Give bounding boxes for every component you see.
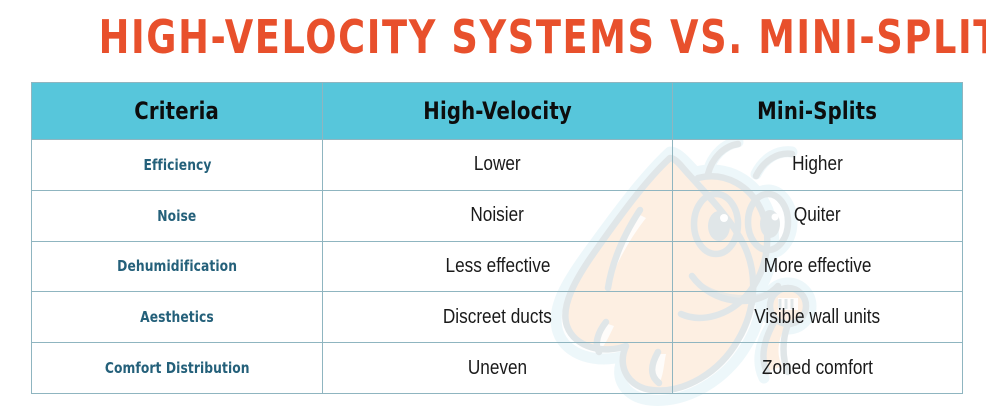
high-velocity-cell: Less effective — [323, 241, 673, 292]
mini-splits-cell: Higher — [673, 140, 963, 191]
criteria-cell: Comfort Distribution — [32, 343, 323, 394]
page-title: High-Velocity Systems vs. Mini-Splits — [99, 8, 888, 66]
column-header-criteria: Criteria — [32, 83, 323, 140]
criteria-cell: Dehumidification — [32, 241, 323, 292]
criteria-cell: Noise — [32, 190, 323, 241]
table-row: Aesthetics Discreet ducts Visible wall u… — [32, 292, 963, 343]
high-velocity-cell: Uneven — [323, 343, 673, 394]
column-header-mini-splits: Mini-Splits — [673, 83, 963, 140]
high-velocity-cell: Noisier — [323, 190, 673, 241]
page-title-text: High-Velocity Systems vs. Mini-Splits — [99, 10, 986, 64]
criteria-cell: Aesthetics — [32, 292, 323, 343]
mini-splits-cell: Zoned comfort — [673, 343, 963, 394]
table-row: Comfort Distribution Uneven Zoned comfor… — [32, 343, 963, 394]
table-row: Dehumidification Less effective More eff… — [32, 241, 963, 292]
mini-splits-cell: Quiter — [673, 190, 963, 241]
criteria-cell: Efficiency — [32, 140, 323, 191]
high-velocity-cell: Lower — [323, 140, 673, 191]
comparison-table: Criteria High-Velocity Mini-Splits Effic… — [31, 82, 963, 394]
table-header-row: Criteria High-Velocity Mini-Splits — [32, 83, 963, 140]
comparison-infographic: High-Velocity Systems vs. Mini-Splits — [0, 0, 986, 418]
mini-splits-cell: Visible wall units — [673, 292, 963, 343]
column-header-high-velocity: High-Velocity — [323, 83, 673, 140]
mini-splits-cell: More effective — [673, 241, 963, 292]
table-row: Noise Noisier Quiter — [32, 190, 963, 241]
table-row: Efficiency Lower Higher — [32, 140, 963, 191]
high-velocity-cell: Discreet ducts — [323, 292, 673, 343]
